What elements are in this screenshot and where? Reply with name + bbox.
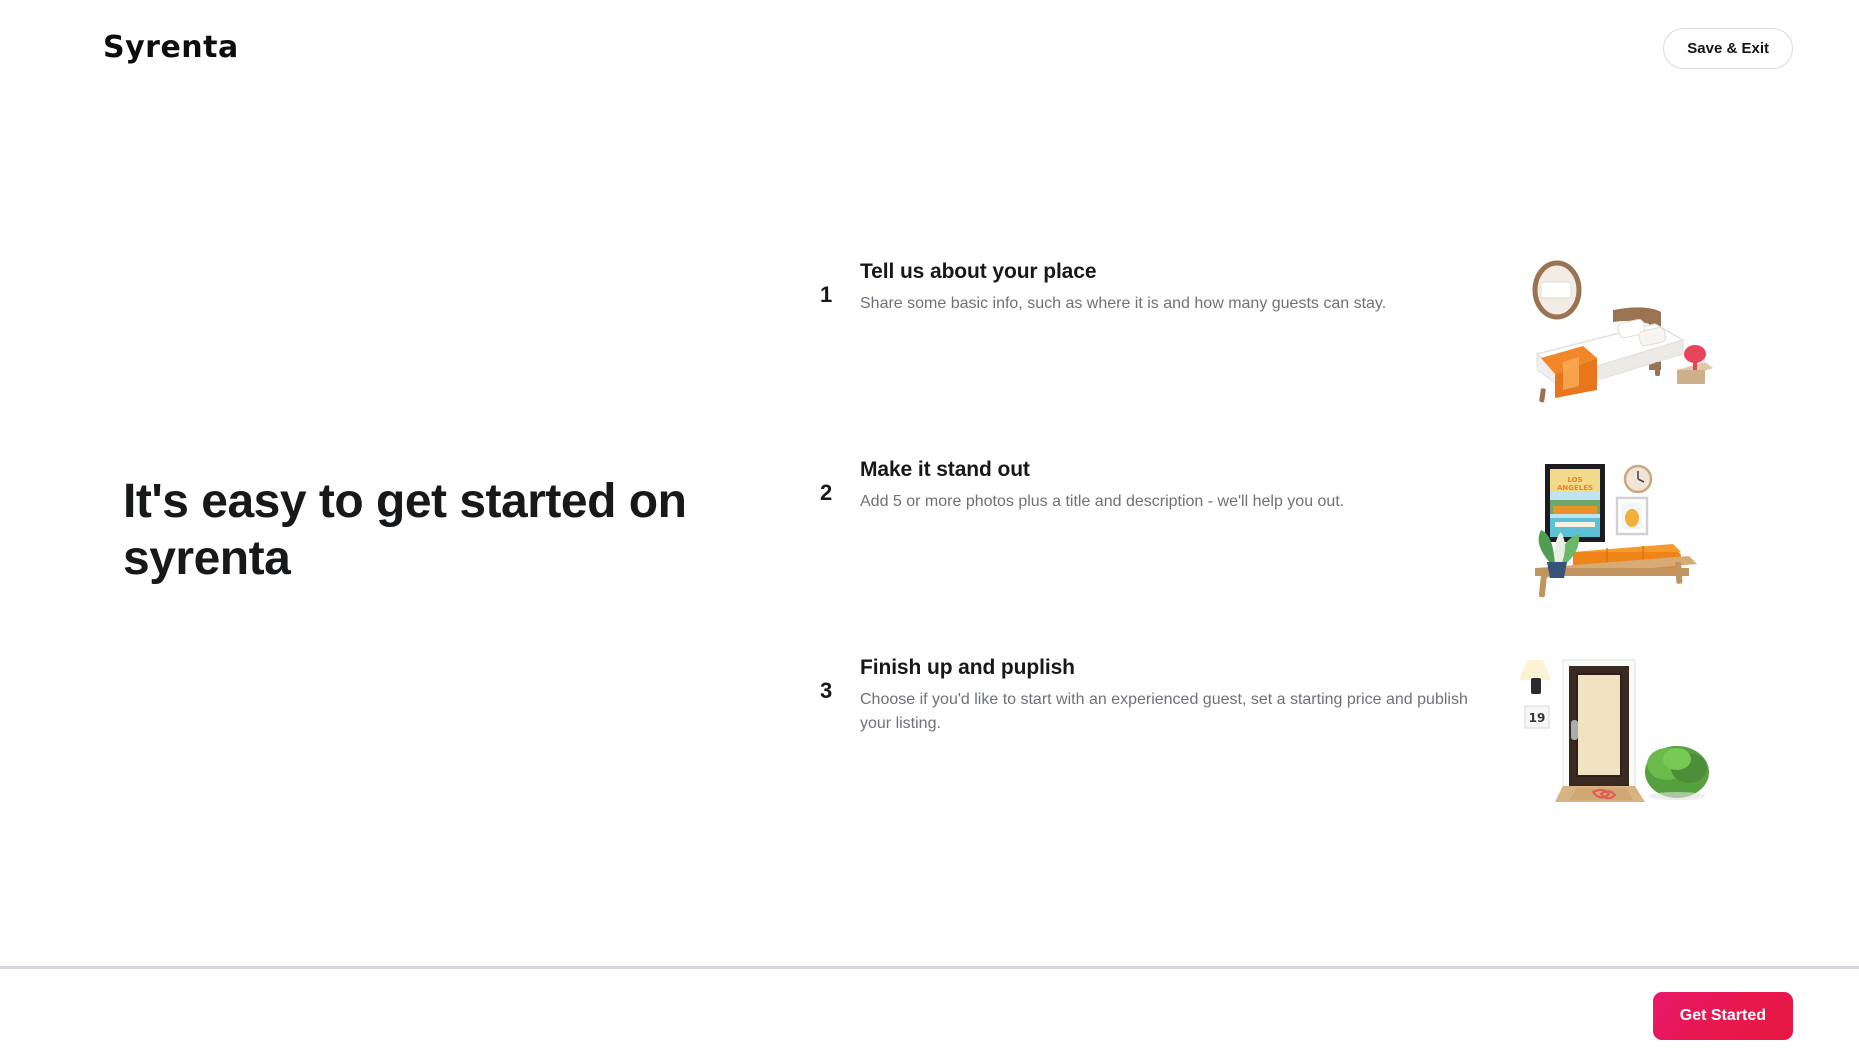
footer-bar: Get Started bbox=[0, 966, 1859, 1063]
step-number-3: 3 bbox=[820, 654, 860, 702]
onboarding-page: Syrenta Save & Exit It's easy to get sta… bbox=[0, 0, 1859, 1063]
step-title-2: Make it stand out bbox=[860, 456, 1480, 484]
step-item-1: 1 Tell us about your place Share some ba… bbox=[820, 234, 1799, 432]
step-number-2: 2 bbox=[820, 456, 860, 504]
step-description-1: Share some basic info, such as where it … bbox=[860, 292, 1480, 316]
app-header: Syrenta Save & Exit bbox=[0, 0, 1859, 96]
syrenta-logo[interactable]: Syrenta bbox=[103, 33, 239, 63]
step-body-3: Finish up and puplish Choose if you'd li… bbox=[860, 654, 1500, 736]
main-content: It's easy to get started on syrenta 1 Te… bbox=[0, 96, 1859, 966]
bedroom-illustration bbox=[1500, 258, 1730, 408]
front-door-illustration: 19 bbox=[1500, 654, 1730, 804]
steps-list: 1 Tell us about your place Share some ba… bbox=[820, 234, 1859, 828]
step-title-1: Tell us about your place bbox=[860, 258, 1480, 286]
hero-column: It's easy to get started on syrenta bbox=[0, 474, 820, 587]
house-number-text: 19 bbox=[1529, 711, 1546, 725]
step-body-1: Tell us about your place Share some basi… bbox=[860, 258, 1500, 316]
step-description-2: Add 5 or more photos plus a title and de… bbox=[860, 490, 1480, 514]
step-body-2: Make it stand out Add 5 or more photos p… bbox=[860, 456, 1500, 514]
svg-text:ANGELES: ANGELES bbox=[1557, 484, 1593, 492]
step-item-2: 2 Make it stand out Add 5 or more photos… bbox=[820, 432, 1799, 630]
svg-text:LOS: LOS bbox=[1567, 476, 1582, 484]
step-title-3: Finish up and puplish bbox=[860, 654, 1480, 682]
living-room-bench-illustration: LOS ANGELES bbox=[1500, 456, 1730, 606]
page-title: It's easy to get started on syrenta bbox=[123, 474, 743, 587]
step-description-3: Choose if you'd like to start with an ex… bbox=[860, 688, 1480, 736]
save-and-exit-button[interactable]: Save & Exit bbox=[1663, 28, 1793, 69]
step-item-3: 3 Finish up and puplish Choose if you'd … bbox=[820, 630, 1799, 828]
get-started-button[interactable]: Get Started bbox=[1653, 992, 1793, 1040]
step-number-1: 1 bbox=[820, 258, 860, 306]
